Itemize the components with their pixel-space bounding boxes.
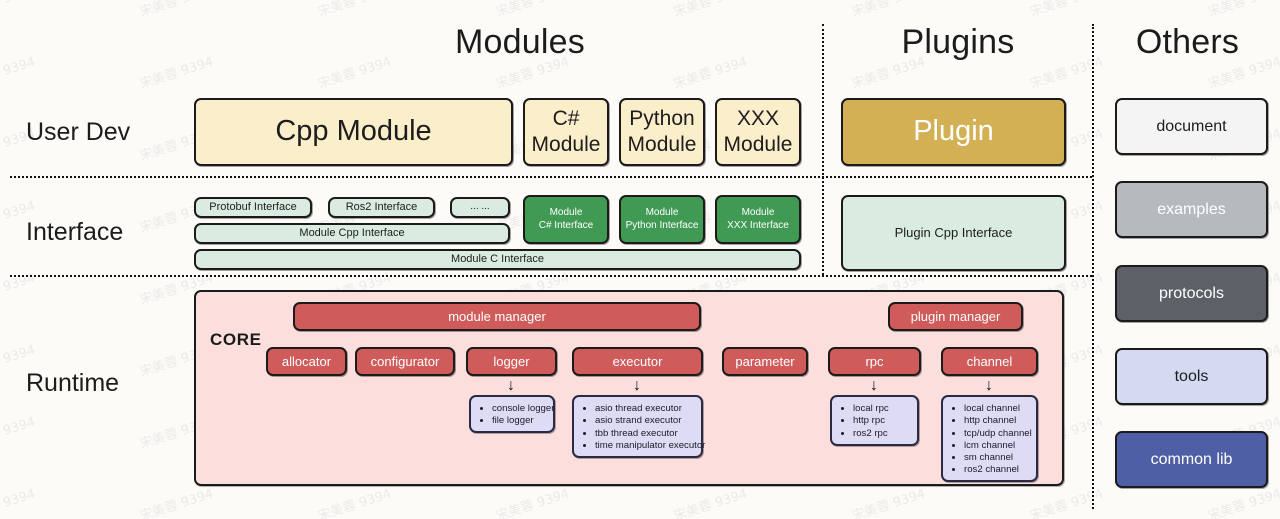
- box-plugin-cpp-interface[interactable]: Plugin Cpp Interface: [841, 195, 1066, 271]
- box-allocator[interactable]: allocator: [266, 347, 347, 376]
- divider-plugins-others: [1092, 24, 1094, 509]
- python-module-label-2: Module: [628, 132, 697, 158]
- list-item: file logger: [492, 415, 547, 427]
- list-item: local rpc: [853, 403, 911, 415]
- box-common-lib[interactable]: common lib: [1115, 431, 1268, 488]
- list-item: ros2 channel: [964, 464, 1030, 476]
- list-item: ros2 rpc: [853, 428, 911, 440]
- detail-box-rpc[interactable]: local rpchttp rpcros2 rpc: [830, 395, 919, 446]
- xxx-module-label-2: Module: [724, 132, 793, 158]
- rpc-items-list: local rpchttp rpcros2 rpc: [840, 403, 911, 440]
- box-csharp-module[interactable]: C# Module: [523, 98, 609, 166]
- list-item: time manipulator executor: [595, 440, 695, 452]
- list-item: http channel: [964, 415, 1030, 427]
- python-module-label-1: Python: [629, 106, 694, 132]
- box-ros2-interface[interactable]: Ros2 Interface: [328, 197, 435, 218]
- arrow-down-logger: ↓: [504, 378, 518, 394]
- box-plugin-manager[interactable]: plugin manager: [888, 302, 1023, 331]
- module-cpp-interface-label: Module Cpp Interface: [299, 227, 404, 240]
- box-plugin[interactable]: Plugin: [841, 98, 1066, 166]
- document-label: document: [1156, 117, 1226, 137]
- detail-box-channel[interactable]: local channelhttp channeltcp/udp channel…: [941, 395, 1038, 482]
- module-csharp-interface-label-2: C# Interface: [539, 220, 593, 232]
- logger-items-list: console loggerfile logger: [479, 403, 547, 428]
- diagram-canvas: 宋美蓉 9394宋美蓉 9394宋美蓉 9394宋美蓉 9394宋美蓉 9394…: [0, 0, 1280, 519]
- section-header-modules: Modules: [330, 23, 710, 62]
- module-python-interface-label-2: Python Interface: [626, 220, 699, 232]
- core-label: CORE: [210, 330, 262, 350]
- box-document[interactable]: document: [1115, 98, 1268, 155]
- module-csharp-interface-label-1: Module: [550, 207, 583, 219]
- protocols-label: protocols: [1159, 284, 1224, 304]
- box-python-module[interactable]: Python Module: [619, 98, 705, 166]
- box-ellipsis-interface[interactable]: ... ...: [450, 197, 510, 218]
- box-module-cpp-interface[interactable]: Module Cpp Interface: [194, 223, 510, 244]
- module-python-interface-label-1: Module: [646, 207, 679, 219]
- box-cpp-module[interactable]: Cpp Module: [194, 98, 513, 166]
- box-configurator[interactable]: configurator: [355, 347, 455, 376]
- examples-label: examples: [1157, 200, 1225, 220]
- ros2-interface-label: Ros2 Interface: [346, 201, 418, 214]
- list-item: asio thread executor: [595, 403, 695, 415]
- box-module-manager[interactable]: module manager: [293, 302, 701, 331]
- module-c-interface-label: Module C Interface: [451, 253, 544, 266]
- list-item: sm channel: [964, 452, 1030, 464]
- csharp-module-label-1: C#: [553, 106, 580, 132]
- cpp-module-label: Cpp Module: [275, 114, 431, 149]
- module-xxx-interface-label-2: XXX Interface: [727, 220, 789, 232]
- tools-label: tools: [1175, 367, 1209, 387]
- list-item: tbb thread executor: [595, 428, 695, 440]
- list-item: tcp/udp channel: [964, 428, 1030, 440]
- protobuf-interface-label: Protobuf Interface: [209, 201, 296, 214]
- box-rpc[interactable]: rpc: [828, 347, 921, 376]
- box-module-python-interface[interactable]: Module Python Interface: [619, 195, 705, 244]
- list-item: asio strand executor: [595, 415, 695, 427]
- divider-userdev-interface: [10, 176, 1092, 178]
- section-header-plugins: Plugins: [833, 23, 1083, 62]
- channel-label: channel: [967, 354, 1013, 370]
- list-item: local channel: [964, 403, 1030, 415]
- arrow-down-rpc: ↓: [867, 378, 881, 394]
- row-label-interface: Interface: [26, 218, 123, 247]
- module-xxx-interface-label-1: Module: [742, 207, 775, 219]
- plugin-manager-label: plugin manager: [911, 309, 1001, 325]
- plugin-label: Plugin: [913, 114, 994, 149]
- arrow-down-channel: ↓: [982, 378, 996, 394]
- ellipsis-interface-label: ... ...: [470, 201, 489, 213]
- detail-box-logger[interactable]: console loggerfile logger: [469, 395, 555, 433]
- box-xxx-module[interactable]: XXX Module: [715, 98, 801, 166]
- row-label-runtime: Runtime: [26, 369, 119, 398]
- box-module-c-interface[interactable]: Module C Interface: [194, 249, 801, 270]
- allocator-label: allocator: [282, 354, 331, 370]
- box-examples[interactable]: examples: [1115, 181, 1268, 238]
- section-header-others: Others: [1100, 23, 1275, 62]
- parameter-label: parameter: [735, 354, 794, 370]
- box-parameter[interactable]: parameter: [722, 347, 808, 376]
- detail-box-executor[interactable]: asio thread executorasio strand executor…: [572, 395, 703, 458]
- box-module-xxx-interface[interactable]: Module XXX Interface: [715, 195, 801, 244]
- box-tools[interactable]: tools: [1115, 348, 1268, 405]
- list-item: console logger: [492, 403, 547, 415]
- configurator-label: configurator: [371, 354, 440, 370]
- list-item: http rpc: [853, 415, 911, 427]
- rpc-label: rpc: [865, 354, 883, 370]
- arrow-down-executor: ↓: [630, 378, 644, 394]
- box-channel[interactable]: channel: [941, 347, 1038, 376]
- box-logger[interactable]: logger: [466, 347, 557, 376]
- box-executor[interactable]: executor: [572, 347, 703, 376]
- module-manager-label: module manager: [448, 309, 546, 325]
- box-module-csharp-interface[interactable]: Module C# Interface: [523, 195, 609, 244]
- box-protocols[interactable]: protocols: [1115, 265, 1268, 322]
- xxx-module-label-1: XXX: [737, 106, 779, 132]
- common-lib-label: common lib: [1151, 450, 1233, 470]
- divider-interface-runtime: [10, 275, 1092, 277]
- row-label-user-dev: User Dev: [26, 118, 130, 147]
- executor-items-list: asio thread executorasio strand executor…: [582, 403, 695, 452]
- logger-label: logger: [493, 354, 529, 370]
- csharp-module-label-2: Module: [532, 132, 601, 158]
- channel-items-list: local channelhttp channeltcp/udp channel…: [951, 403, 1030, 477]
- list-item: lcm channel: [964, 440, 1030, 452]
- divider-modules-plugins: [822, 24, 824, 275]
- box-protobuf-interface[interactable]: Protobuf Interface: [194, 197, 312, 218]
- plugin-cpp-interface-label: Plugin Cpp Interface: [895, 225, 1013, 241]
- executor-label: executor: [613, 354, 663, 370]
